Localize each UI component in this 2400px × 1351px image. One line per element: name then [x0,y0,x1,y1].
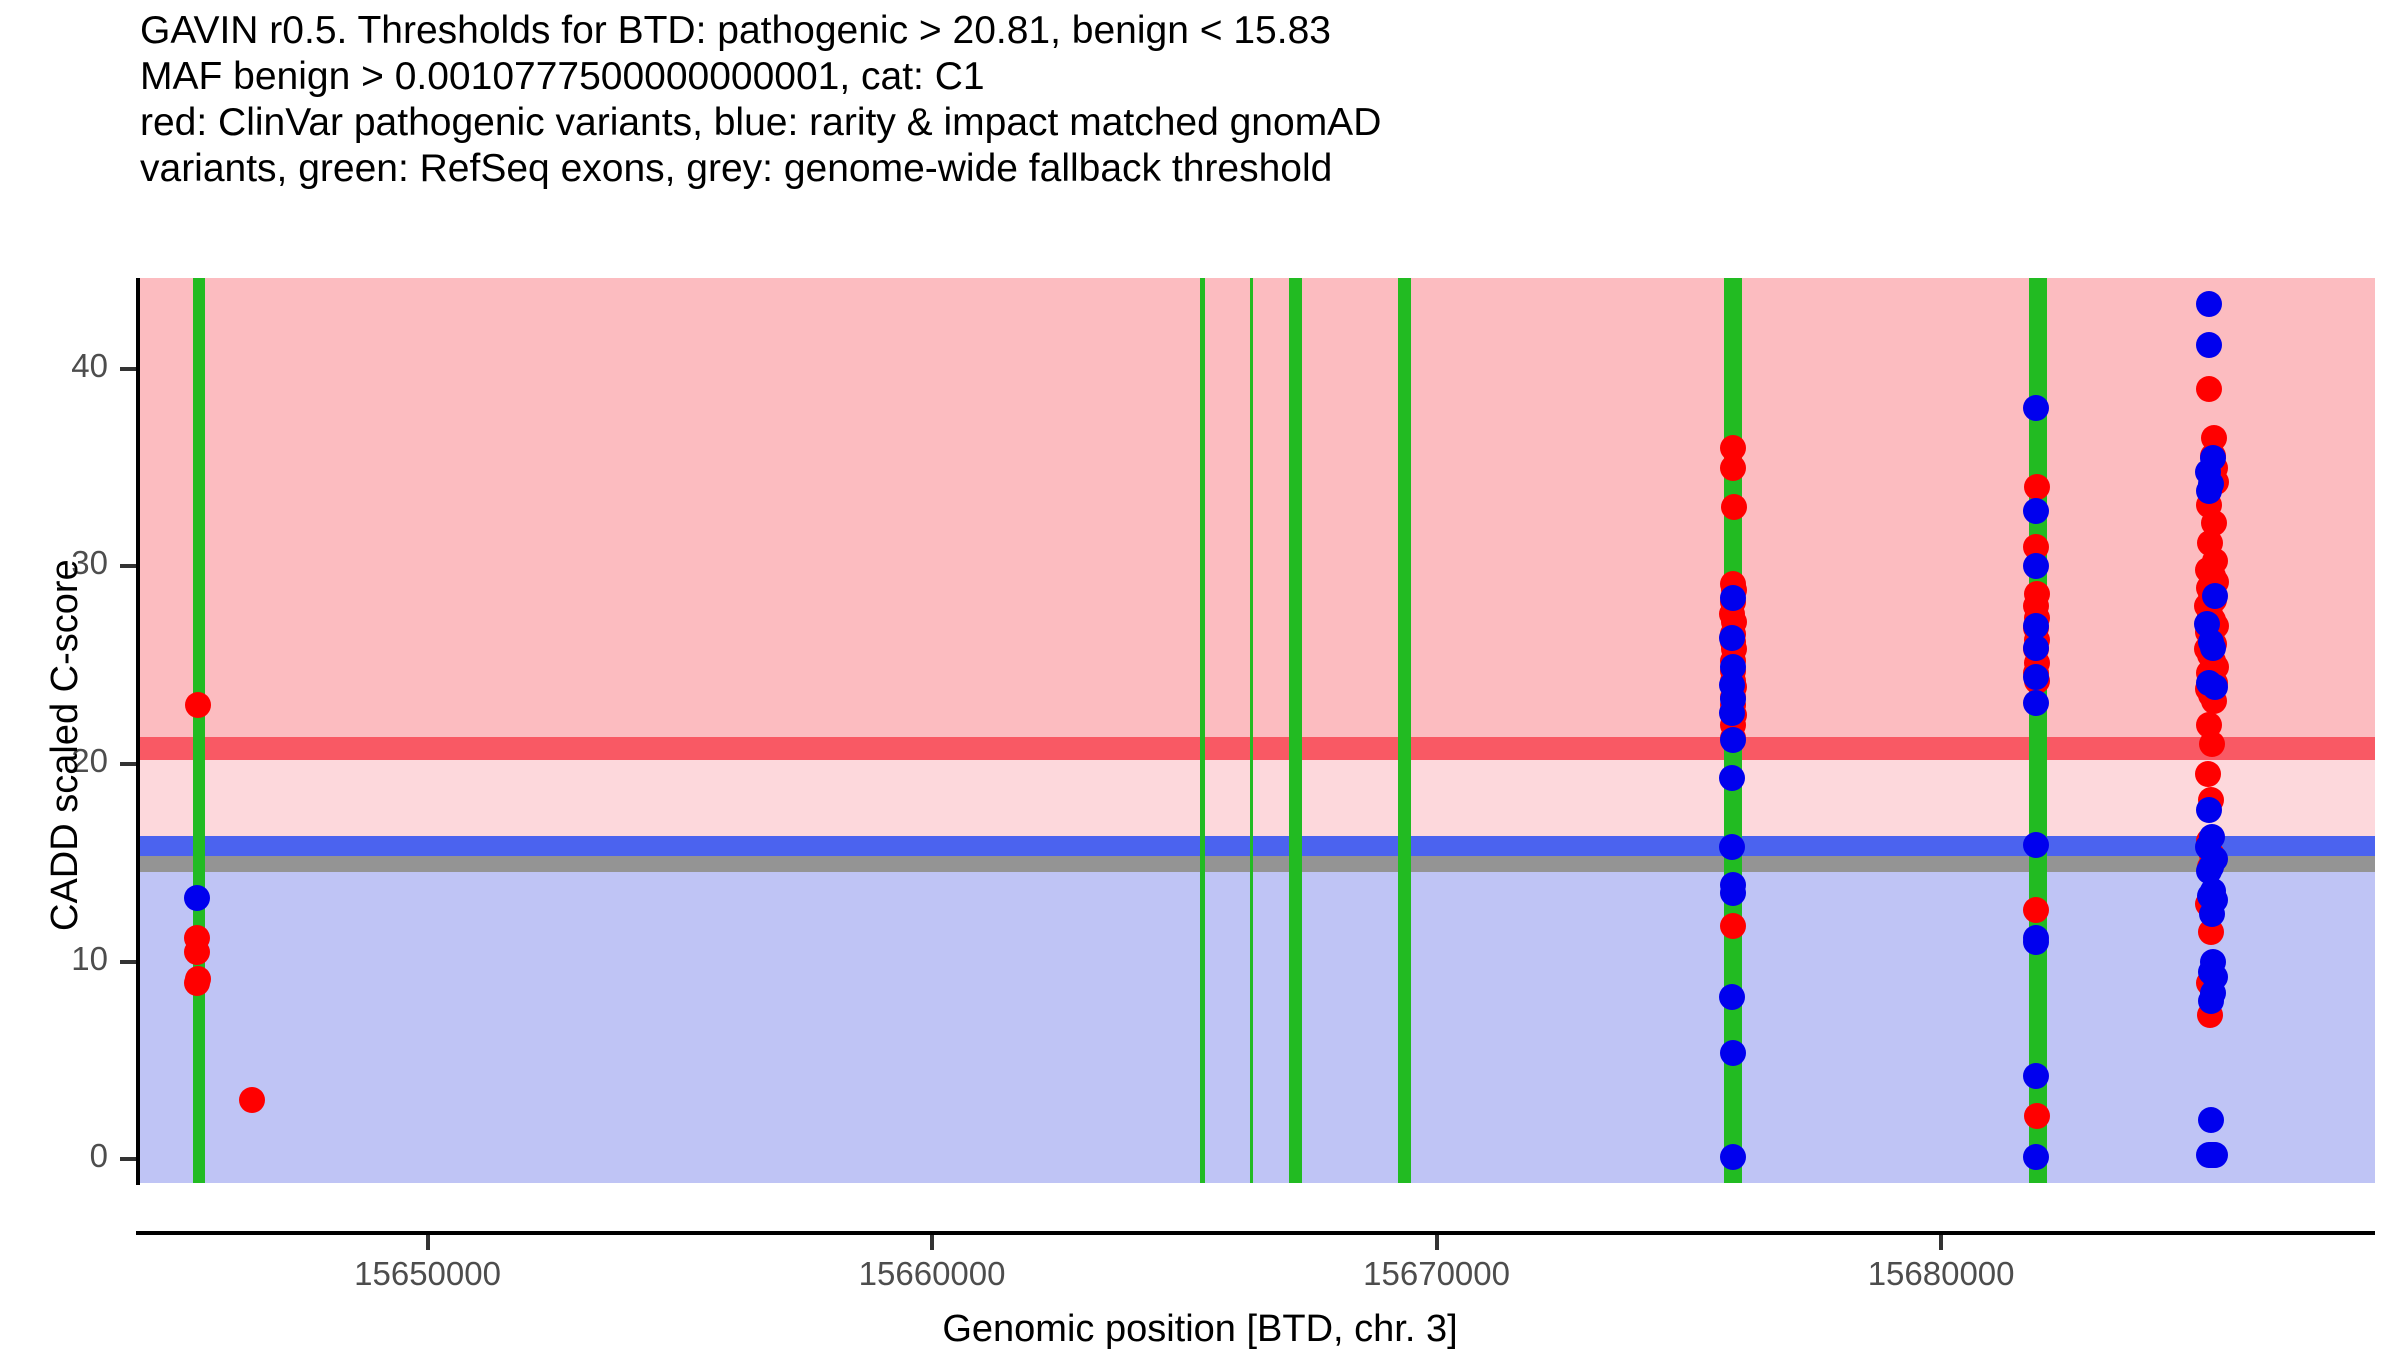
gnomad-variant-point [1719,700,1745,726]
refseq-exon-3 [1289,278,1302,1183]
title-line-2: MAF benign > 0.0010777500000000001, cat:… [140,54,2340,100]
clinvar-variant-point [2196,376,2222,402]
gnomad-variant-point [1720,727,1746,753]
gnomad-variant-point [2196,797,2222,823]
clinvar-variant-point [1720,913,1746,939]
gnomad-variant-point [1720,1040,1746,1066]
x-tick-mark [1939,1235,1943,1250]
clinvar-variant-point [2024,1103,2050,1129]
gnomad-variant-point [2196,291,2222,317]
clinvar-variant-point [185,692,211,718]
gnomad-variant-point [2200,635,2226,661]
clinvar-variant-point [239,1087,265,1113]
clinvar-variant-point [184,939,210,965]
gnomad-variant-point [2023,635,2049,661]
clinvar-variant-point [2199,731,2225,757]
clinvar-variant-point [1720,455,1746,481]
gnomad-variant-point [1720,585,1746,611]
plot-title: GAVIN r0.5. Thresholds for BTD: pathogen… [140,8,2340,192]
x-tick-label: 15650000 [228,1255,628,1293]
plot-root: GAVIN r0.5. Thresholds for BTD: pathogen… [0,0,2400,1350]
x-tick-label: 15680000 [1741,1255,2141,1293]
gnomad-variant-point [2202,583,2228,609]
x-tick-mark [930,1235,934,1250]
gnomad-variant-point [2202,674,2228,700]
title-line-3: red: ClinVar pathogenic variants, blue: … [140,100,2340,146]
gnomad-variant-point [2196,478,2222,504]
refseq-exon-4 [1398,278,1412,1183]
y-tick-label: 0 [0,1137,108,1175]
x-tick-mark [426,1235,430,1250]
gnomad-variant-point [1719,765,1745,791]
x-tick-label: 15660000 [732,1255,1132,1293]
gnomad-variant-point [2198,1107,2224,1133]
title-line-4: variants, green: RefSeq exons, grey: gen… [140,146,2340,192]
refseq-exon-2 [1250,278,1253,1183]
y-axis-line [136,278,140,1185]
y-axis-title: CADD scaled C-score [44,559,87,931]
y-tick-mark [120,960,136,964]
clinvar-variant-point [2195,761,2221,787]
x-axis-line [136,1231,2375,1235]
x-tick-label: 15670000 [1237,1255,1637,1293]
y-tick-mark [120,762,136,766]
title-line-1: GAVIN r0.5. Thresholds for BTD: pathogen… [140,8,2340,54]
refseq-exon-1 [1200,278,1204,1183]
gnomad-variant-point [2196,332,2222,358]
gnomad-variant-point [184,885,210,911]
y-tick-mark [120,1157,136,1161]
gnomad-variant-point [2202,1142,2228,1168]
gnomad-variant-point [1720,880,1746,906]
y-tick-label: 10 [0,940,108,978]
gnomad-variant-point [2199,901,2225,927]
clinvar-variant-point [1721,494,1747,520]
refseq-exon-0 [193,278,205,1183]
y-tick-label: 40 [0,347,108,385]
x-axis-title: Genomic position [BTD, chr. 3] [0,1308,2400,1351]
y-tick-mark [120,564,136,568]
gnomad-variant-point [1719,625,1745,651]
x-tick-mark [1435,1235,1439,1250]
gnomad-variant-point [2023,690,2049,716]
y-tick-mark [120,367,136,371]
plot-panel [140,278,2375,1183]
